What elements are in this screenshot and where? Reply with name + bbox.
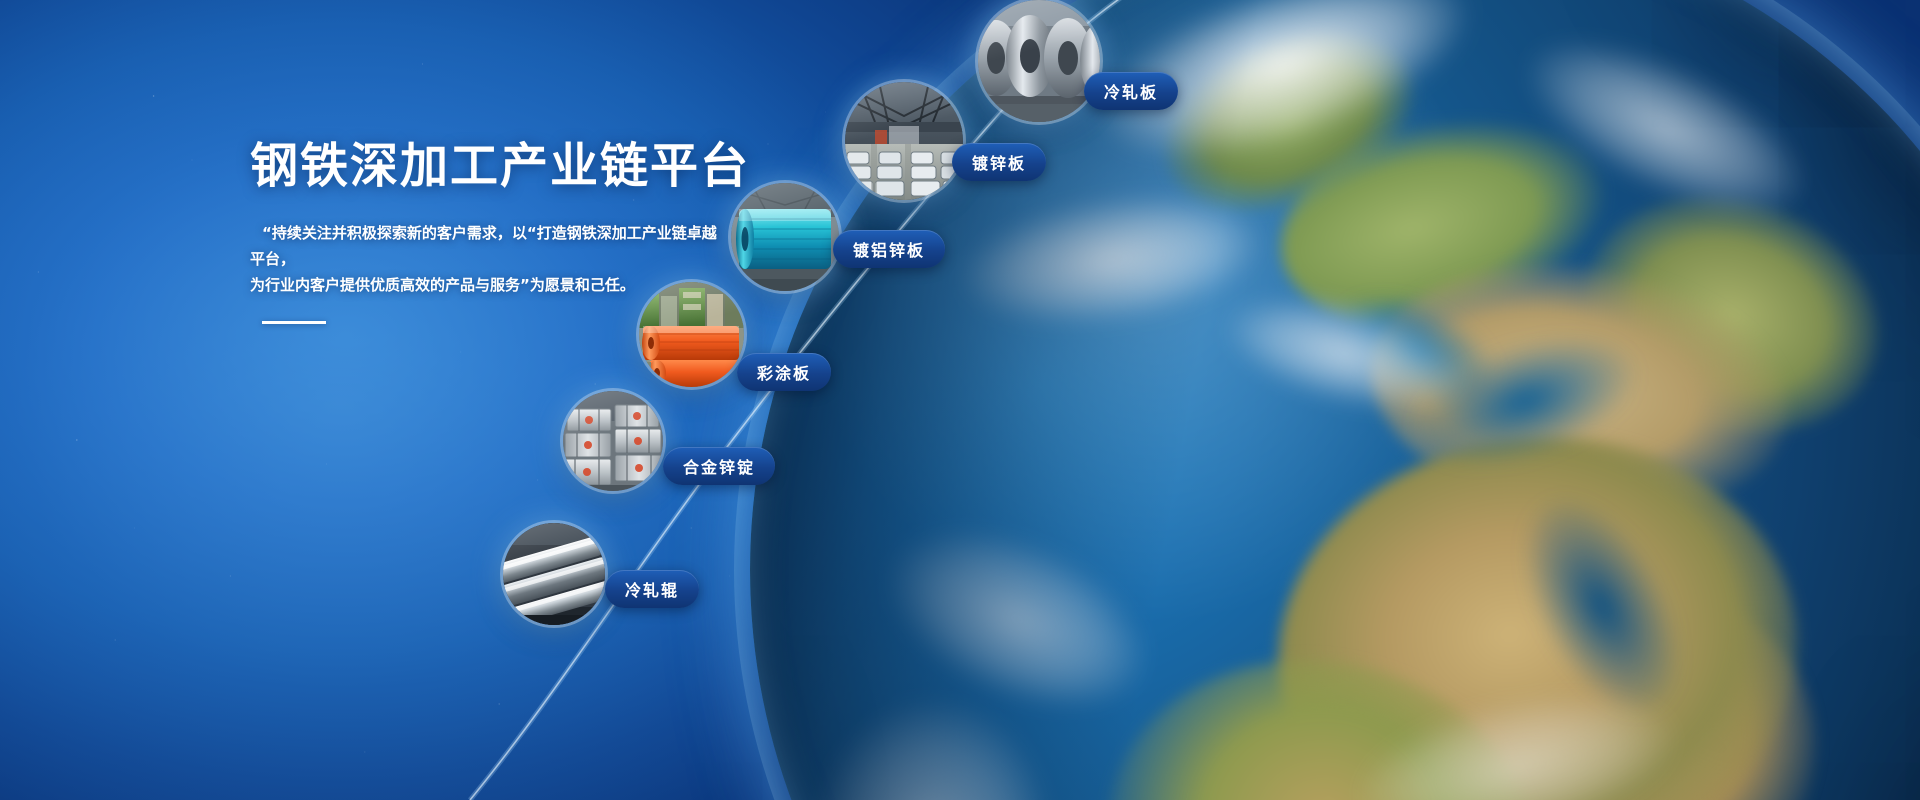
sea-red-sea	[1495, 476, 1709, 735]
hero-banner: 冷轧板	[0, 0, 1920, 800]
tag-galvanized-sheet[interactable]: 镀锌板	[952, 143, 1046, 181]
tag-zinc-alloy-ingot[interactable]: 合金锌锭	[663, 447, 775, 485]
cloud-layer	[1217, 278, 1473, 428]
landmass-central-africa	[1257, 412, 1819, 800]
cloud-layer	[807, 694, 1055, 800]
cloud-layer	[1347, 670, 1687, 800]
bubble-image	[731, 183, 839, 291]
hero-copy: 钢铁深加工产业链平台 “持续关注并积极探索新的客户需求，以“打造钢铁深加工产业链…	[250, 140, 720, 324]
cloud-layer	[1504, 9, 1826, 248]
cloud-layer	[1553, 791, 1885, 800]
tag-cold-rolling-roll[interactable]: 冷轧辊	[605, 570, 699, 608]
galvanized-sheet-warehouse-photo[interactable]	[845, 82, 963, 200]
sea-persian-gulf	[1399, 313, 1652, 489]
hero-subtitle: “持续关注并积极探索新的客户需求，以“打造钢铁深加工产业链卓越平台， 为行业内客…	[250, 220, 720, 299]
landmass-sahara	[1355, 238, 1806, 544]
bubble-image	[845, 82, 963, 200]
landmass-arabia	[1516, 596, 1816, 800]
landmass-europe	[1139, 0, 1440, 245]
page-title: 钢铁深加工产业链平台	[250, 140, 720, 194]
divider-rule	[262, 321, 326, 324]
cold-rolled-steel-coils-photo[interactable]	[978, 0, 1100, 122]
tag-galvalume-sheet[interactable]: 镀铝锌板	[833, 230, 945, 268]
tag-color-coated-sheet[interactable]: 彩涂板	[737, 353, 831, 391]
sea-mediterranean	[1320, 275, 1512, 426]
landmass-asia	[1553, 160, 1909, 471]
subtitle-line-2: 为行业内客户提供优质高效的产品与服务”为愿景和己任。	[250, 272, 720, 298]
background-glow	[0, 0, 940, 800]
cold-rolling-mill-rolls-photo[interactable]	[503, 523, 605, 625]
landmass-north-africa	[1259, 84, 1628, 358]
subtitle-line-1: “持续关注并积极探索新的客户需求，以“打造钢铁深加工产业链卓越平台，	[250, 220, 720, 273]
zinc-alloy-ingots-stacked-photo[interactable]	[563, 391, 663, 491]
cloud-layer	[863, 495, 1171, 742]
bubble-image	[563, 391, 663, 491]
landmass-west-africa	[1074, 622, 1569, 800]
bubble-image	[503, 523, 605, 625]
bubble-image	[978, 0, 1100, 122]
tag-cold-rolled-sheet[interactable]: 冷轧板	[1084, 72, 1178, 110]
cloud-layer	[954, 180, 1268, 341]
galvalume-coil-blue-photo[interactable]	[731, 183, 839, 291]
